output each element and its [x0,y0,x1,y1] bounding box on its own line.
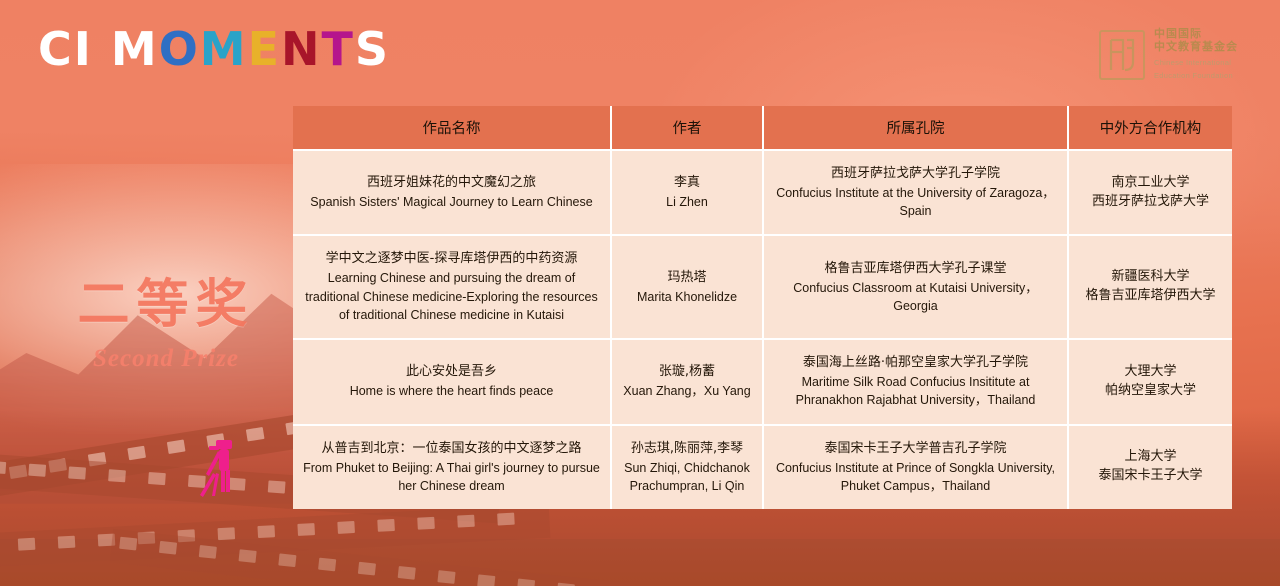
cell-partner: 大理大学帕纳空皇家大学 [1068,339,1232,424]
prize-label: 二等奖 Second Prize [46,278,286,373]
film-perforation [517,579,535,586]
work-title-cn: 学中文之逐梦中医-探寻库塔伊西的中药资源 [303,250,600,269]
cief-seal-icon [1099,30,1145,80]
author-en: Sun Zhiqi, Chidchanok Prachumpran, Li Qi… [622,459,752,496]
page-header: CI MOMENTS 中国国际 中文教育基金会 Chinese Internat… [0,0,1280,100]
film-perforation [318,558,336,572]
work-title-cn: 从普吉到北京：一位泰国女孩的中文逐梦之路 [303,440,600,459]
prize-title-cn: 二等奖 [46,278,286,333]
wordmark-letter-9: S [355,26,390,72]
institute-cn: 格鲁吉亚库塔伊西大学孔子课堂 [774,260,1057,279]
author-cn: 孙志琪,陈丽萍,李琴 [622,440,752,459]
partner-line1: 南京工业大学 [1079,174,1222,193]
partner-line2: 格鲁吉亚库塔伊西大学 [1079,287,1222,306]
institute-cn: 泰国海上丝路·帕那空皇家大学孔子学院 [774,354,1057,373]
work-title-en: Learning Chinese and pursuing the dream … [303,269,600,324]
partner-line2: 泰国宋卡王子大学 [1079,467,1222,486]
film-perforation [218,527,236,540]
results-table: 作品名称 作者 所属孔院 中外方合作机构 西班牙姐妹花的中文魔幻之旅Spanis… [293,106,1232,509]
cell-author: 玛热塔Marita Khonelidze [611,235,763,339]
table-row: 此心安处是吾乡Home is where the heart finds pea… [293,339,1232,424]
wordmark-letter-0: C [38,26,74,72]
column-header-partner: 中外方合作机构 [1068,106,1232,150]
cell-author: 李真Li Zhen [611,150,763,235]
partner-line1: 上海大学 [1079,448,1222,467]
author-en: Marita Khonelidze [622,288,752,306]
institute-en: Confucius Classroom at Kutaisi Universit… [774,279,1057,316]
author-en: Xuan Zhang，Xu Yang [622,382,752,400]
film-perforation [58,536,76,549]
author-cn: 玛热塔 [622,269,752,288]
photographer-silhouette-icon [196,440,242,500]
film-perforation [108,469,126,482]
table-row: 从普吉到北京：一位泰国女孩的中文逐梦之路From Phuket to Beiji… [293,425,1232,509]
wordmark-letter-2 [93,26,111,72]
film-perforation [297,523,315,536]
wordmark-letter-5: M [200,26,248,72]
film-perforation [239,549,257,563]
partner-line2: 西班牙萨拉戈萨大学 [1079,193,1222,212]
film-perforation [119,537,137,551]
cief-name-cn-line2: 中文教育基金会 [1154,41,1238,54]
film-perforation [148,472,166,485]
wordmark-letter-3: M [111,26,159,72]
author-cn: 张璇,杨蓄 [622,363,752,382]
cief-name-en-line1: Chinese International [1154,58,1238,69]
results-table-container: 作品名称 作者 所属孔院 中外方合作机构 西班牙姐妹花的中文魔幻之旅Spanis… [293,106,1232,509]
cell-institute: 泰国宋卡王子大学普吉孔子学院Confucius Institute at Pri… [763,425,1068,509]
ci-moments-wordmark: CI MOMENTS [38,26,390,72]
cell-author: 孙志琪,陈丽萍,李琴Sun Zhiqi, Chidchanok Prachump… [611,425,763,509]
institute-cn: 泰国宋卡王子大学普吉孔子学院 [774,440,1057,459]
cell-author: 张璇,杨蓄Xuan Zhang，Xu Yang [611,339,763,424]
cell-title: 此心安处是吾乡Home is where the heart finds pea… [293,339,611,424]
column-header-institute: 所属孔院 [763,106,1068,150]
film-perforation [497,513,515,526]
seal-glyph-icon [1101,32,1143,78]
film-perforation [268,480,286,493]
cell-institute: 格鲁吉亚库塔伊西大学孔子课堂Confucius Classroom at Kut… [763,235,1068,339]
film-perforation [377,519,395,532]
work-title-cn: 西班牙姐妹花的中文魔幻之旅 [303,174,600,193]
table-header-row: 作品名称 作者 所属孔院 中外方合作机构 [293,106,1232,150]
film-perforation [257,525,275,538]
film-perforation [477,574,495,586]
film-perforation [18,538,36,551]
film-perforation [337,521,355,534]
partner-line1: 新疆医科大学 [1079,268,1222,287]
cell-partner: 南京工业大学西班牙萨拉戈萨大学 [1068,150,1232,235]
film-perforation [246,427,265,442]
cell-title: 西班牙姐妹花的中文魔幻之旅Spanish Sisters' Magical Jo… [293,150,611,235]
column-header-title: 作品名称 [293,106,611,150]
wordmark-letter-6: E [248,26,281,72]
cell-partner: 上海大学泰国宋卡王子大学 [1068,425,1232,509]
author-cn: 李真 [622,174,752,193]
prize-title-en: Second Prize [46,345,286,373]
wordmark-letter-4: O [159,26,200,72]
film-perforation [0,461,6,474]
partner-line2: 帕纳空皇家大学 [1079,382,1222,401]
wordmark-letter-7: N [281,26,322,72]
cell-institute: 西班牙萨拉戈萨大学孔子学院Confucius Institute at the … [763,150,1068,235]
partner-line1: 大理大学 [1079,363,1222,382]
cell-partner: 新疆医科大学格鲁吉亚库塔伊西大学 [1068,235,1232,339]
film-perforation [127,446,146,461]
institute-cn: 西班牙萨拉戈萨大学孔子学院 [774,165,1057,184]
work-title-en: Spanish Sisters' Magical Journey to Lear… [303,193,600,211]
film-perforation [437,570,455,584]
table-row: 学中文之逐梦中医-探寻库塔伊西的中药资源Learning Chinese and… [293,235,1232,339]
cief-logo-text: 中国国际 中文教育基金会 Chinese International Educa… [1154,28,1238,82]
institute-en: Confucius Institute at Prince of Songkla… [774,459,1057,496]
work-title-en: From Phuket to Beijing: A Thai girl's jo… [303,459,600,496]
cell-title: 从普吉到北京：一位泰国女孩的中文逐梦之路From Phuket to Beiji… [293,425,611,509]
work-title-en: Home is where the heart finds peace [303,382,600,400]
film-perforation [417,517,435,530]
film-perforation [358,562,376,576]
film-perforation [199,545,217,559]
cell-institute: 泰国海上丝路·帕那空皇家大学孔子学院Maritime Silk Road Con… [763,339,1068,424]
author-en: Li Zhen [622,193,752,211]
cief-name-cn-line1: 中国国际 [1154,28,1238,41]
cief-logo: 中国国际 中文教育基金会 Chinese International Educa… [1099,28,1238,82]
film-perforation [278,553,296,567]
work-title-cn: 此心安处是吾乡 [303,363,600,382]
institute-en: Maritime Silk Road Confucius Insititute … [774,373,1057,410]
film-perforation [28,464,46,477]
film-perforation [167,439,186,454]
cell-title: 学中文之逐梦中医-探寻库塔伊西的中药资源Learning Chinese and… [293,235,611,339]
table-row: 西班牙姐妹花的中文魔幻之旅Spanish Sisters' Magical Jo… [293,150,1232,235]
column-header-author: 作者 [611,106,763,150]
wordmark-letter-1: I [74,26,93,72]
institute-en: Confucius Institute at the University of… [774,184,1057,221]
film-perforation [457,515,475,528]
film-perforation [68,466,86,479]
wordmark-letter-8: T [322,26,355,72]
film-perforation [398,566,416,580]
film-perforation [159,541,177,555]
cief-name-en-line2: Education Foundation [1154,71,1238,82]
